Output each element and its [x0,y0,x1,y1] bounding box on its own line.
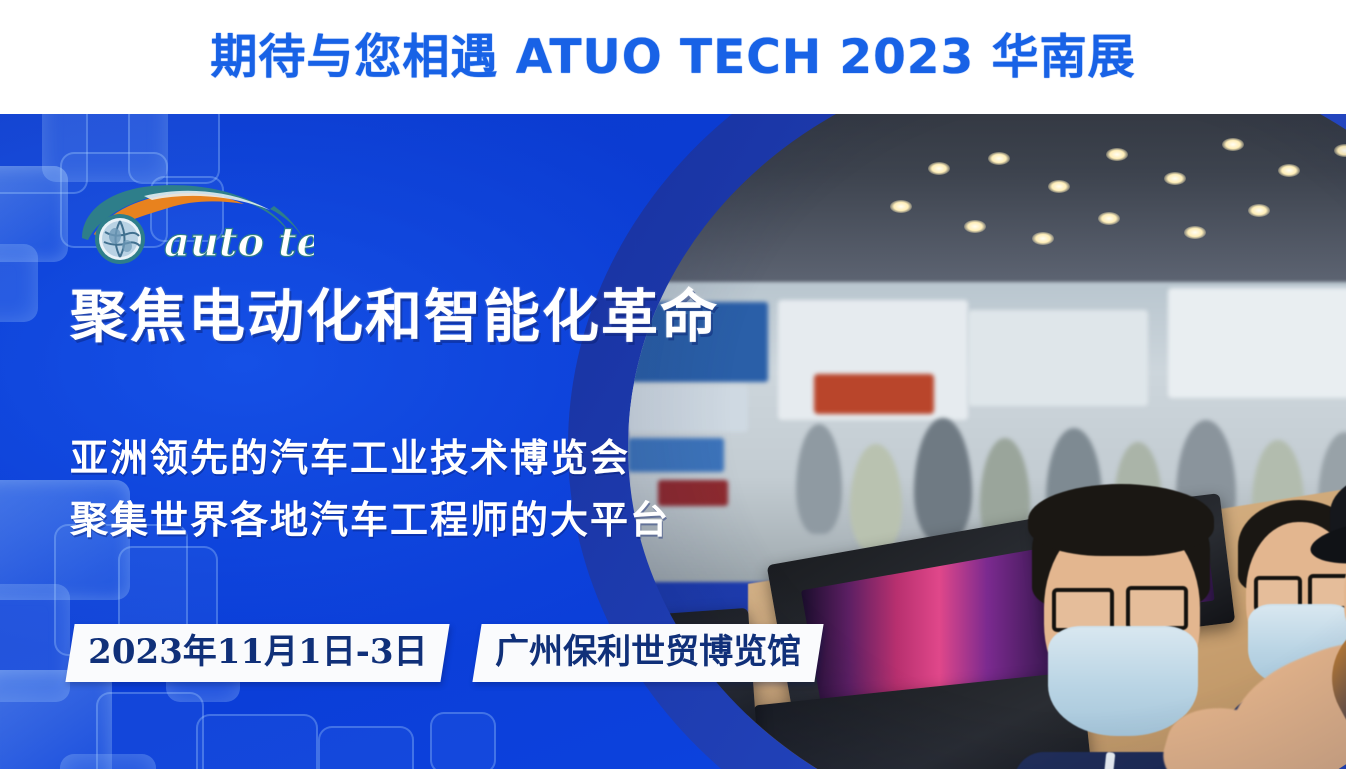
hero-subtitle-2: 聚集世界各地汽车工程师的大平台 [70,501,670,539]
venue-badge-label: 广州保利世贸博览馆 [496,633,802,671]
hero-subtitle-1: 亚洲领先的汽车工业技术博览会 [70,439,630,477]
info-badges: 2023年11月1日-3日 广州保利世贸博览馆 [70,624,819,682]
hero-content: auto tech 聚焦电动化和智能化革命 亚洲领先的汽车工业技术博览会 聚集世… [0,114,820,769]
car-globe-logo-icon: auto tech [74,176,314,268]
venue-badge: 广州保利世贸博览馆 [473,624,824,682]
hero-headline: 聚焦电动化和智能化革命 [70,289,719,346]
poster-root: 期待与您相遇 ATUO TECH 2023 华南展 [0,0,1346,769]
date-badge: 2023年11月1日-3日 [65,624,450,682]
auto-tech-logo: auto tech [74,176,314,268]
page-title: 期待与您相遇 ATUO TECH 2023 华南展 [210,34,1135,81]
date-badge-label: 2023年11月1日-3日 [88,633,427,671]
header-band: 期待与您相遇 ATUO TECH 2023 华南展 [0,0,1346,114]
logo-wordmark: auto tech [164,219,314,266]
